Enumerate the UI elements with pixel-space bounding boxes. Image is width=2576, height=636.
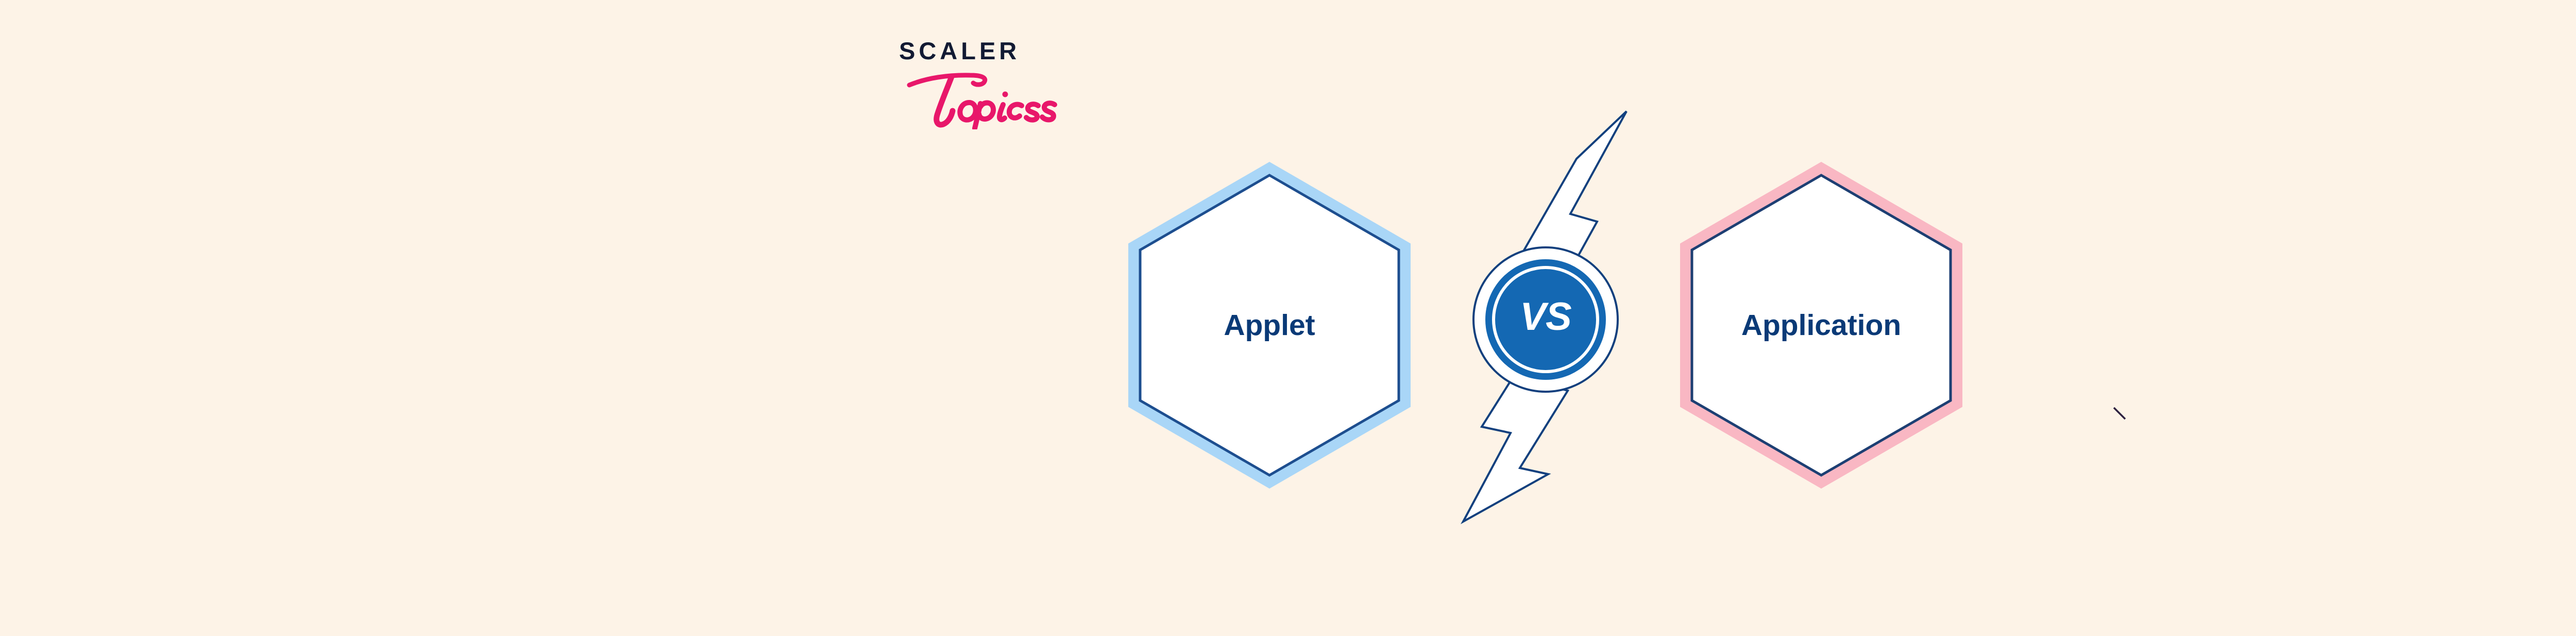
hexagon-application[interactable]: Application [1680,162,1962,489]
hexagon-applet[interactable]: Applet [1128,162,1411,489]
vs-badge-inner-disc [1496,270,1595,369]
logo-script-topics [902,62,1067,129]
scaler-topics-logo[interactable]: SCALER [899,39,1069,152]
logo-wordmark: SCALER [899,39,1020,63]
canvas: SCALER [0,0,2576,636]
vs-divider-badge: VS [1443,98,1649,536]
stray-tick-mark [2113,407,2128,422]
